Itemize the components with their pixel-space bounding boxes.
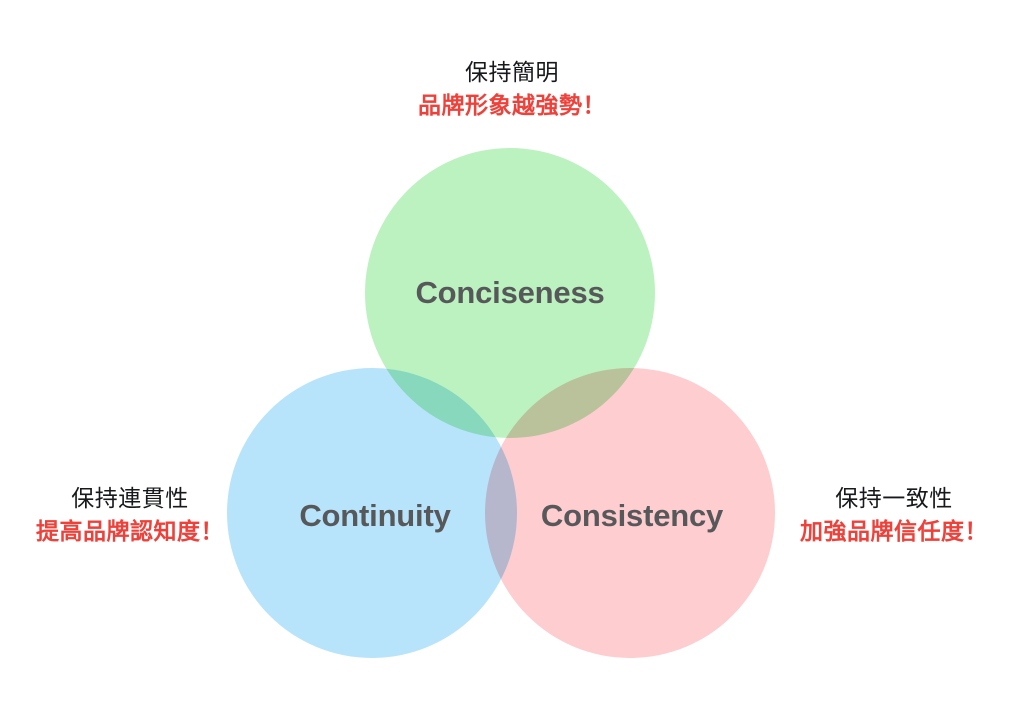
- annotation-left-accent: 提高品牌認知度！: [36, 517, 224, 546]
- annotation-right-accent: 加強品牌信任度！: [800, 517, 988, 546]
- venn-label-conciseness: Conciseness: [415, 275, 604, 311]
- annotation-top-accent: 品牌形象越強勢！: [418, 91, 606, 120]
- venn-label-consistency: Consistency: [541, 498, 723, 534]
- annotation-right-main: 保持一致性: [800, 484, 988, 513]
- venn-diagram-canvas: Conciseness Continuity Consistency 保持簡明 …: [0, 0, 1024, 724]
- annotation-left: 保持連貫性 提高品牌認知度！: [36, 484, 224, 547]
- annotation-right: 保持一致性 加強品牌信任度！: [800, 484, 988, 547]
- annotation-top-main: 保持簡明: [418, 58, 606, 87]
- venn-label-continuity: Continuity: [299, 498, 450, 534]
- annotation-left-main: 保持連貫性: [36, 484, 224, 513]
- annotation-top: 保持簡明 品牌形象越強勢！: [418, 58, 606, 121]
